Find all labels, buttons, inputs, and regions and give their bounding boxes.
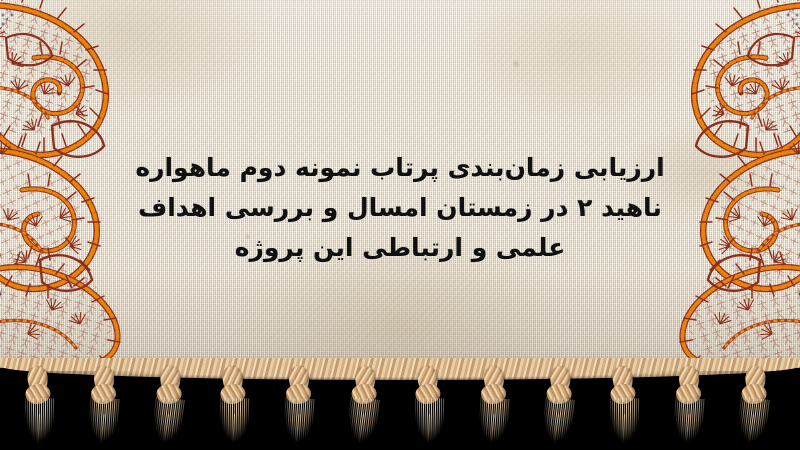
tassel — [605, 361, 643, 449]
tassel-skirt — [219, 398, 250, 443]
tassel — [477, 362, 511, 448]
tassel — [215, 361, 253, 449]
tassel — [735, 361, 773, 449]
tassel-skirt — [24, 398, 55, 443]
tassel-skirt — [151, 396, 186, 443]
tassel-fringe — [0, 362, 800, 450]
tassel — [20, 361, 58, 449]
tassel-skirt — [478, 397, 511, 443]
caption-text-block: ارزیابی زمان‌بندی پرتاب نمونه دوم ماهوار… — [0, 148, 800, 268]
tassel-skirt — [346, 396, 381, 443]
caption-line-1: ارزیابی زمان‌بندی پرتاب نمونه دوم ماهوار… — [0, 148, 800, 188]
tassel — [672, 362, 706, 448]
tassel — [345, 361, 383, 449]
banner-image: ارزیابی زمان‌بندی پرتاب نمونه دوم ماهوار… — [0, 0, 800, 450]
tassel — [150, 361, 188, 449]
tassel — [410, 361, 448, 449]
tassel-skirt — [414, 398, 445, 443]
tassel-skirt — [609, 398, 640, 443]
tassel — [282, 362, 316, 448]
tassel — [540, 361, 578, 449]
tassel-skirt — [673, 397, 706, 443]
tassel — [87, 362, 121, 448]
caption-line-3: علمی و ارتباطی این پروژه — [0, 228, 800, 268]
tassel-skirt — [541, 396, 576, 443]
tassel-skirt — [88, 397, 121, 443]
tassel-skirt — [283, 397, 316, 443]
caption-line-2: ناهید ۲ در زمستان امسال و بررسی اهداف — [0, 188, 800, 228]
tassel-skirt — [736, 396, 771, 443]
